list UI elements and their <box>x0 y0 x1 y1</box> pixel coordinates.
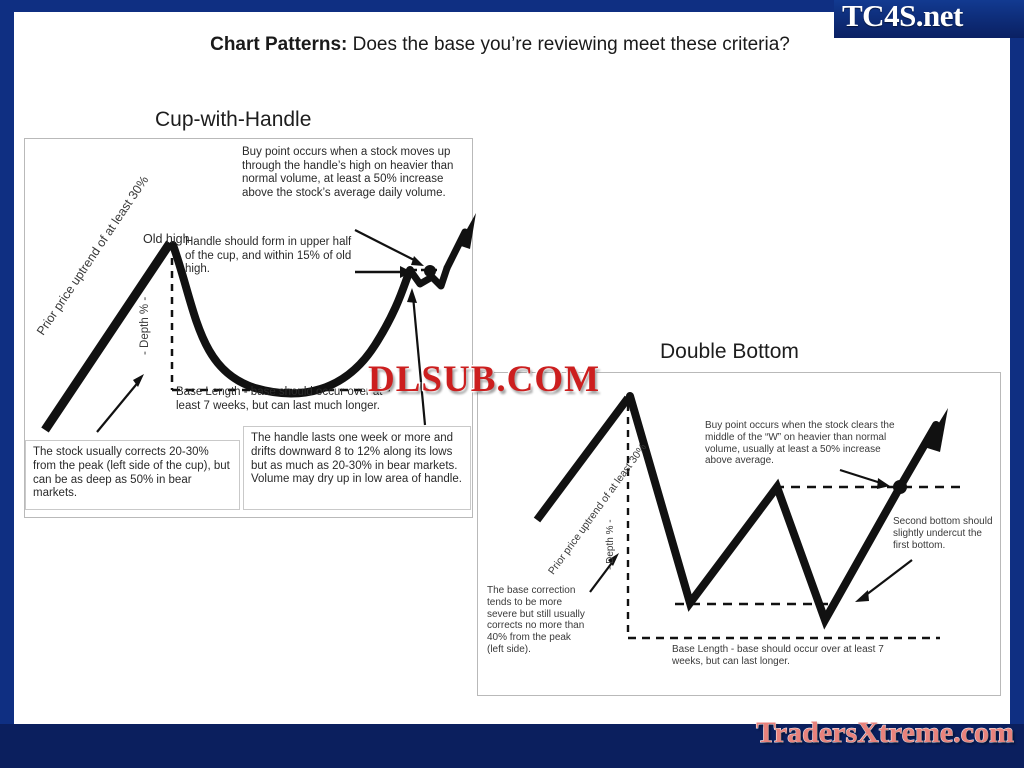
dlsub-watermark: DLSUB.COM <box>368 358 600 401</box>
db-depth-label: - Depth % - <box>605 519 616 570</box>
tc4s-watermark-band: TC4S.net <box>834 0 1024 38</box>
db-secondbottom-leader <box>862 560 912 598</box>
db-second-bottom-note: Second bottom should slightly undercut t… <box>893 516 993 551</box>
db-base-correction-note: The base correction tends to be more sev… <box>487 585 587 656</box>
tradersxtreme-watermark: TradersXtreme.com <box>756 716 1014 750</box>
tc4s-watermark-text: TC4S.net <box>842 0 963 34</box>
db-buy-point-note: Buy point occurs when the stock clears t… <box>705 420 905 467</box>
db-buypoint-leader <box>840 470 884 484</box>
db-uptrend-line <box>537 398 628 520</box>
db-base-length-note: Base Length - base should occur over at … <box>672 644 912 668</box>
db-secondbottom-leader-head <box>855 590 869 602</box>
db-breakout-arrowhead <box>924 408 948 452</box>
slide: Chart Patterns: Does the base you’re rev… <box>0 0 1024 768</box>
